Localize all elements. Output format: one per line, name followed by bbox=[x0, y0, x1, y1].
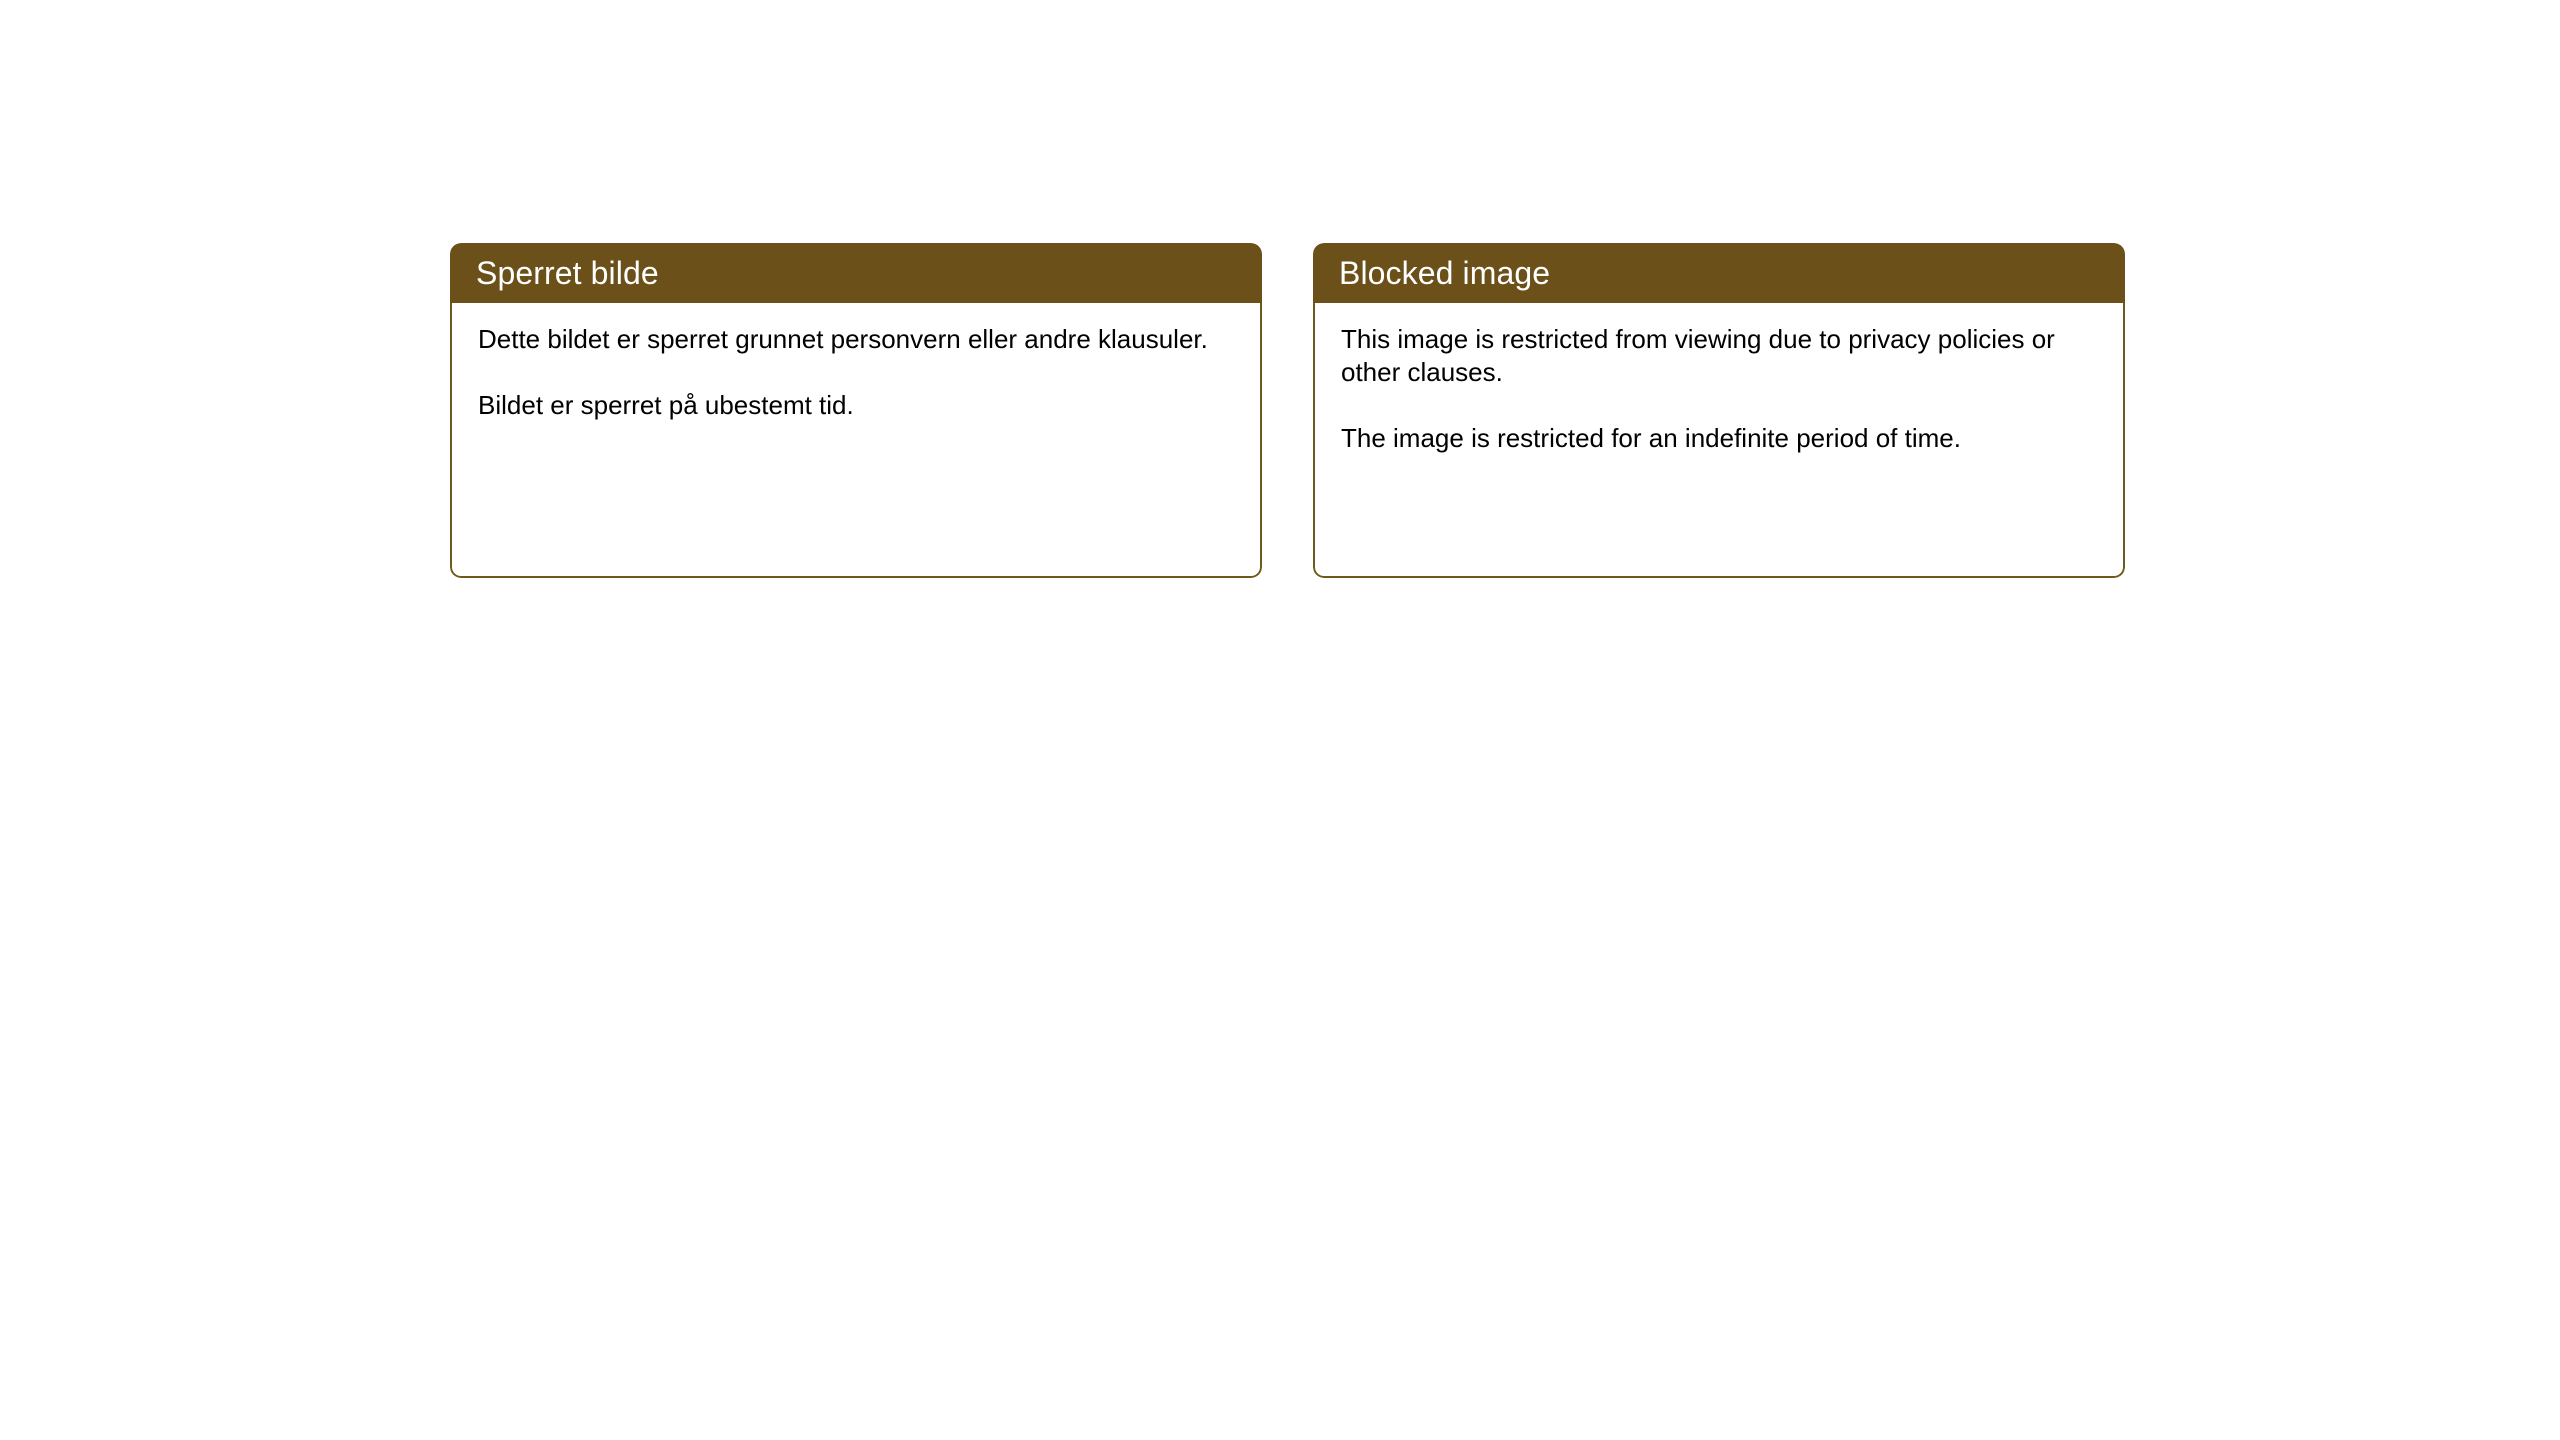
blocked-image-card-norwegian: Sperret bilde Dette bildet er sperret gr… bbox=[450, 243, 1262, 578]
card-title-english: Blocked image bbox=[1339, 255, 1550, 291]
page-root: Sperret bilde Dette bildet er sperret gr… bbox=[0, 0, 2560, 1440]
card-paragraph-english-2: The image is restricted for an indefinit… bbox=[1341, 422, 2097, 455]
card-paragraph-english-1: This image is restricted from viewing du… bbox=[1341, 323, 2097, 389]
card-header-english: Blocked image bbox=[1313, 243, 2125, 303]
blocked-image-card-english: Blocked image This image is restricted f… bbox=[1313, 243, 2125, 578]
notice-card-row: Sperret bilde Dette bildet er sperret gr… bbox=[450, 243, 2125, 578]
card-paragraph-norwegian-1: Dette bildet er sperret grunnet personve… bbox=[478, 323, 1234, 356]
card-body-norwegian: Dette bildet er sperret grunnet personve… bbox=[450, 303, 1262, 578]
card-body-english: This image is restricted from viewing du… bbox=[1313, 303, 2125, 578]
card-header-norwegian: Sperret bilde bbox=[450, 243, 1262, 303]
card-paragraph-norwegian-2: Bildet er sperret på ubestemt tid. bbox=[478, 389, 1234, 422]
card-title-norwegian: Sperret bilde bbox=[476, 255, 659, 291]
